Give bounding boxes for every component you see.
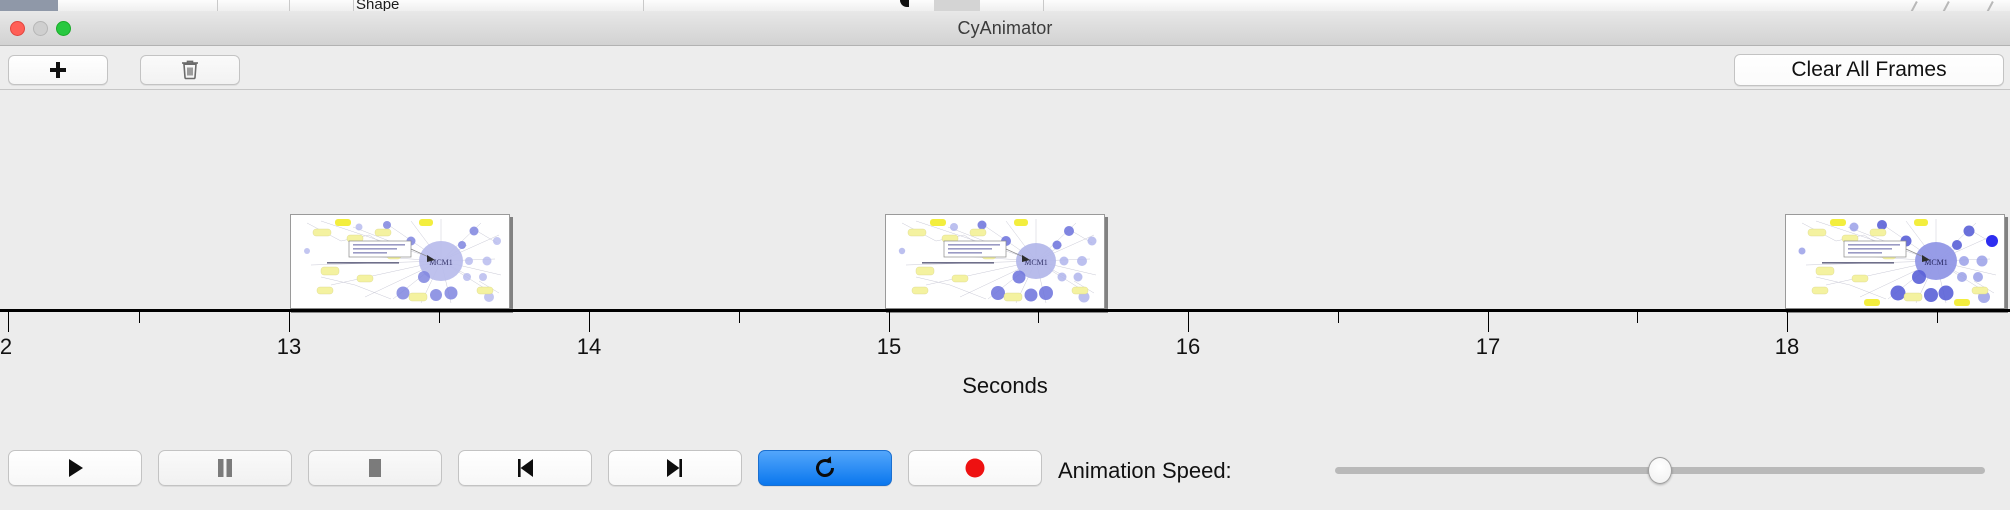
record-icon bbox=[964, 457, 986, 479]
background-selected-cell bbox=[0, 0, 58, 11]
skip-back-icon bbox=[513, 456, 537, 480]
axis-tick-label: 16 bbox=[1176, 334, 1200, 360]
slider-thumb[interactable] bbox=[1648, 457, 1672, 484]
frame-thumbnail-network: MCM1 bbox=[1786, 215, 2004, 308]
timeline-panel: MCM1 bbox=[0, 90, 2010, 415]
animation-speed-slider[interactable] bbox=[1335, 467, 1985, 475]
title-bar: CyAnimator bbox=[0, 11, 2010, 46]
axis-tick-label: 17 bbox=[1476, 334, 1500, 360]
animation-speed-label: Animation Speed: bbox=[1058, 458, 1232, 484]
timeline-frame[interactable]: MCM1 bbox=[290, 214, 510, 309]
step-forward-button[interactable] bbox=[608, 450, 742, 486]
pause-icon bbox=[213, 456, 237, 480]
background-cell bbox=[58, 0, 218, 11]
axis-tick bbox=[139, 312, 140, 323]
loop-button[interactable] bbox=[758, 450, 892, 486]
axis-tick bbox=[739, 312, 740, 323]
axis-tick bbox=[289, 312, 290, 332]
frame-thumbnail-network: MCM1 bbox=[886, 215, 1104, 308]
axis-tick-label: 15 bbox=[877, 334, 901, 360]
axis-tick bbox=[1787, 312, 1788, 332]
cyanimator-window: Shape CyAnimator bbox=[0, 0, 2010, 510]
record-button[interactable] bbox=[908, 450, 1042, 486]
traffic-lights bbox=[10, 11, 71, 46]
axis-tick bbox=[589, 312, 590, 332]
minimize-button[interactable] bbox=[33, 21, 48, 36]
axis-line bbox=[0, 309, 2010, 312]
axis-tick-label: 13 bbox=[277, 334, 301, 360]
window-title: CyAnimator bbox=[957, 18, 1052, 39]
delete-frame-button[interactable] bbox=[140, 55, 240, 85]
background-window-label: Shape bbox=[356, 0, 399, 11]
clear-all-frames-button[interactable]: Clear All Frames bbox=[1734, 54, 2004, 86]
axis-tick bbox=[1637, 312, 1638, 323]
frames-area[interactable]: MCM1 bbox=[0, 90, 2010, 309]
background-slash-icon bbox=[1910, 1, 1918, 11]
plus-icon bbox=[48, 60, 68, 80]
axis-tick bbox=[1488, 312, 1489, 332]
axis-tick bbox=[889, 312, 890, 332]
playback-toolbar: Animation Speed: bbox=[0, 434, 2010, 510]
pause-button[interactable] bbox=[158, 450, 292, 486]
top-toolbar: Clear All Frames bbox=[0, 46, 2010, 90]
skip-forward-icon bbox=[663, 456, 687, 480]
background-cell bbox=[218, 0, 290, 11]
axis-tick-label: 18 bbox=[1775, 334, 1799, 360]
stop-button[interactable] bbox=[308, 450, 442, 486]
zoom-button[interactable] bbox=[56, 21, 71, 36]
frame-thumbnail-network: MCM1 bbox=[291, 215, 509, 308]
timeline-axis: 2 13 14 15 16 17 18 bbox=[0, 309, 2010, 369]
play-icon bbox=[63, 456, 87, 480]
axis-tick bbox=[1338, 312, 1339, 323]
axis-tick bbox=[1038, 312, 1039, 323]
play-button[interactable] bbox=[8, 450, 142, 486]
axis-tick-label: 14 bbox=[577, 334, 601, 360]
background-slash-icon bbox=[1942, 1, 1950, 11]
background-window-strip: Shape bbox=[0, 0, 2010, 11]
close-button[interactable] bbox=[10, 21, 25, 36]
axis-tick-label: 2 bbox=[0, 334, 12, 360]
stop-icon bbox=[363, 456, 387, 480]
step-back-button[interactable] bbox=[458, 450, 592, 486]
timeline-frame[interactable]: MCM1 bbox=[885, 214, 1105, 309]
background-cell bbox=[644, 0, 1044, 11]
background-cell bbox=[290, 0, 354, 11]
background-slash-icon bbox=[1986, 1, 1994, 11]
background-cell bbox=[934, 0, 980, 11]
axis-tick bbox=[1937, 312, 1938, 323]
timeline-frame[interactable]: MCM1 bbox=[1785, 214, 2005, 309]
loop-icon bbox=[812, 455, 838, 481]
trash-icon bbox=[180, 59, 200, 81]
axis-tick bbox=[439, 312, 440, 323]
axis-tick bbox=[8, 312, 9, 332]
add-frame-button[interactable] bbox=[8, 55, 108, 85]
axis-title: Seconds bbox=[0, 373, 2010, 399]
axis-tick bbox=[1188, 312, 1189, 332]
